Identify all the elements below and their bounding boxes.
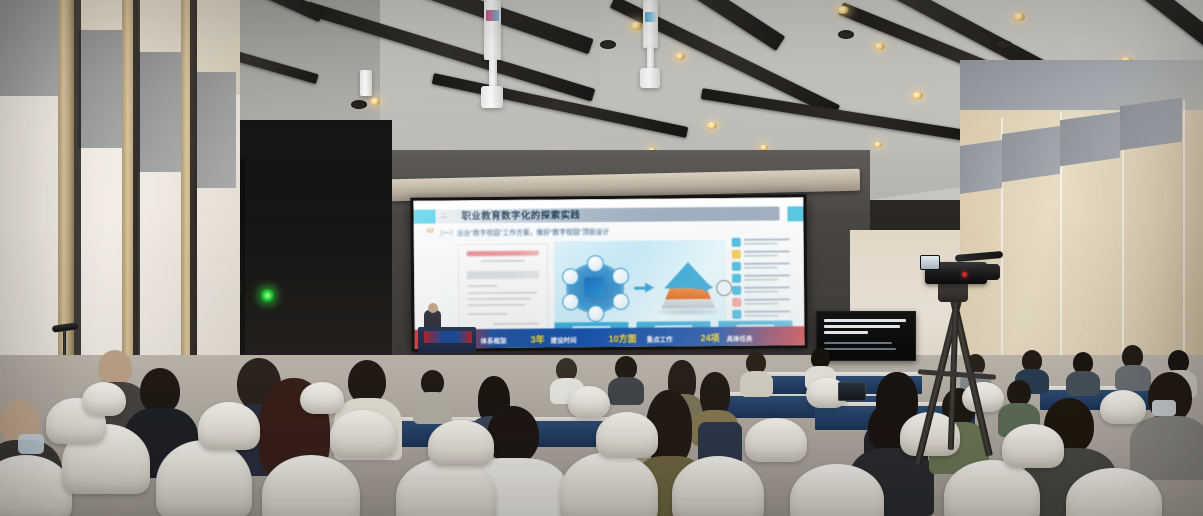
- list-label-line: [744, 262, 790, 264]
- face-mask: [18, 434, 44, 454]
- icon-list-item: [732, 261, 792, 272]
- chair: [300, 382, 344, 414]
- cluster-core-icon: [584, 277, 604, 297]
- ceiling-vent: [600, 40, 616, 49]
- person-torso: [1066, 371, 1100, 396]
- ceiling-vent: [351, 100, 367, 109]
- ceiling-speaker: [360, 70, 372, 96]
- spotlight-icon: [1013, 13, 1025, 21]
- digital-signage-display: [816, 311, 916, 361]
- slide-accent-right: [787, 206, 803, 221]
- chair: [82, 382, 126, 416]
- list-icon: [732, 298, 741, 307]
- icon-list-item: [732, 273, 792, 284]
- list-icon: [732, 250, 741, 259]
- chair: [428, 420, 494, 466]
- ceiling-projector: [484, 0, 501, 60]
- podium-front-banner: [424, 331, 472, 343]
- ceiling-vent: [994, 40, 1012, 49]
- cluster-node: [562, 293, 579, 310]
- list-label-line: [744, 298, 790, 300]
- target-circle-icon: [716, 280, 732, 296]
- cluster-node: [612, 293, 629, 310]
- slide-section-marker: 二、: [440, 212, 450, 219]
- ceiling-projector: [643, 0, 658, 48]
- sign-text-line: [824, 342, 892, 344]
- projected-slide: 二、 职业教育数字化的探索实践 02 （一）出台“数字校园”工作方案，做好“数字…: [413, 197, 804, 348]
- list-label-line: [744, 250, 790, 252]
- list-icon: [732, 286, 741, 295]
- chair: [745, 418, 807, 462]
- dark-wall-section: [222, 120, 392, 380]
- list-label-line: [744, 291, 778, 293]
- cluster-node: [612, 268, 629, 285]
- conference-hall-photo: 二、 职业教育数字化的探索实践 02 （一）出台“数字校园”工作方案，做好“数字…: [0, 0, 1203, 516]
- slide-subtitle: （一）出台“数字校园”工作方案，做好“数字校园”顶层设计: [437, 226, 610, 238]
- ceiling-vent: [838, 30, 854, 39]
- chair: [962, 382, 1004, 412]
- ceiling-projector-head: [640, 68, 660, 88]
- sign-text-line: [824, 331, 868, 334]
- person-torso: [1115, 365, 1151, 391]
- person-torso: [740, 371, 773, 397]
- list-icon: [732, 310, 741, 319]
- slide-document-card: [458, 244, 549, 339]
- document-line: [467, 304, 525, 306]
- slide-title: 职业教育数字化的探索实践: [461, 209, 580, 223]
- sign-text-line: [824, 319, 906, 322]
- cluster-node: [587, 305, 604, 322]
- chair: [568, 386, 610, 418]
- document-line: [493, 323, 539, 325]
- projector-label: [645, 12, 656, 22]
- list-label-line: [744, 243, 778, 245]
- icon-list-item: [732, 249, 792, 260]
- arrow-right-icon: [645, 283, 654, 293]
- spotlight-icon: [630, 22, 642, 30]
- banner-accent-4: 3年: [531, 333, 545, 346]
- camera-record-indicator-icon: [962, 272, 967, 277]
- list-label-line: [744, 255, 778, 257]
- list-label-line: [744, 279, 778, 281]
- cluster-node: [562, 268, 579, 285]
- spotlight-icon: [912, 92, 923, 99]
- laptop-screen: [838, 382, 866, 401]
- person-head: [98, 350, 132, 386]
- icon-list-item: [732, 309, 792, 320]
- document-line: [467, 298, 531, 300]
- spotlight-icon: [707, 122, 717, 129]
- hexagon-node-cluster: [560, 255, 631, 322]
- camera-lens-hood: [978, 264, 1000, 280]
- spotlight-icon: [370, 98, 380, 105]
- banner-text-4: 建设时间: [551, 334, 577, 344]
- person-torso: [413, 392, 452, 424]
- document-paragraph-block: [467, 271, 539, 280]
- person-head: [487, 406, 539, 464]
- chair: [156, 440, 252, 516]
- pyramid-base-layer: [661, 299, 715, 308]
- ceiling-projector-head: [481, 86, 503, 108]
- pyramid-shadow: [657, 308, 719, 316]
- spotlight-icon: [874, 142, 882, 147]
- list-label-line: [744, 286, 790, 288]
- list-label-line: [744, 274, 790, 276]
- cluster-node: [587, 255, 604, 272]
- chair: [596, 412, 658, 458]
- icon-list-item: [732, 297, 792, 308]
- left-wall-acoustic-panel: [0, 0, 58, 96]
- slide-subtitle-marker: 02: [427, 228, 434, 235]
- chair: [1100, 390, 1146, 424]
- arrow-right-icon: [704, 282, 713, 292]
- banner-accent-6: 24项: [701, 331, 720, 344]
- list-label-line: [744, 315, 778, 317]
- document-line: [467, 292, 537, 294]
- banner-text-5: 重点工作: [647, 333, 673, 343]
- list-icon: [732, 238, 741, 247]
- chair: [330, 410, 396, 458]
- document-line: [467, 285, 497, 287]
- person-torso: [608, 377, 644, 405]
- banner-accent-5: 10方面: [609, 332, 637, 345]
- right-wall-acoustic-panel: [1002, 126, 1060, 182]
- icon-list-item: [732, 285, 792, 296]
- presenter-head: [428, 303, 438, 313]
- ceiling-projector-pole: [647, 46, 654, 70]
- banner-text-6: 具体任务: [727, 333, 753, 343]
- icon-list-item: [732, 237, 792, 248]
- chair: [198, 402, 260, 450]
- face-mask: [1152, 400, 1176, 416]
- list-icon: [732, 262, 741, 271]
- right-wall-acoustic-panel: [1120, 98, 1182, 151]
- list-icon: [732, 274, 741, 283]
- document-line: [481, 260, 525, 262]
- list-label-line: [744, 238, 790, 240]
- sign-text-line: [824, 348, 896, 350]
- spotlight-icon: [837, 6, 849, 14]
- document-heading: [467, 251, 539, 257]
- camera-flip-monitor: [920, 255, 940, 270]
- emergency-exit-indicator-icon: [261, 289, 274, 302]
- list-label-line: [744, 303, 778, 305]
- list-label-line: [744, 310, 790, 312]
- projector-label: [486, 10, 499, 21]
- list-label-line: [744, 267, 778, 269]
- spotlight-icon: [874, 43, 885, 50]
- ceiling-projector-pole: [489, 58, 497, 88]
- banner-text-3: 体系框架: [481, 335, 507, 345]
- right-wall-acoustic-panel: [960, 140, 1002, 194]
- document-line: [467, 313, 507, 315]
- tripod-fluid-head: [938, 282, 968, 302]
- sign-text-line: [824, 325, 900, 328]
- slide-accent-left: [413, 210, 435, 224]
- spotlight-icon: [675, 53, 685, 60]
- right-wall-acoustic-panel: [1060, 112, 1120, 166]
- left-wall-acoustic-panel: [194, 72, 236, 188]
- chair: [1002, 424, 1064, 468]
- person-torso: [1130, 416, 1203, 480]
